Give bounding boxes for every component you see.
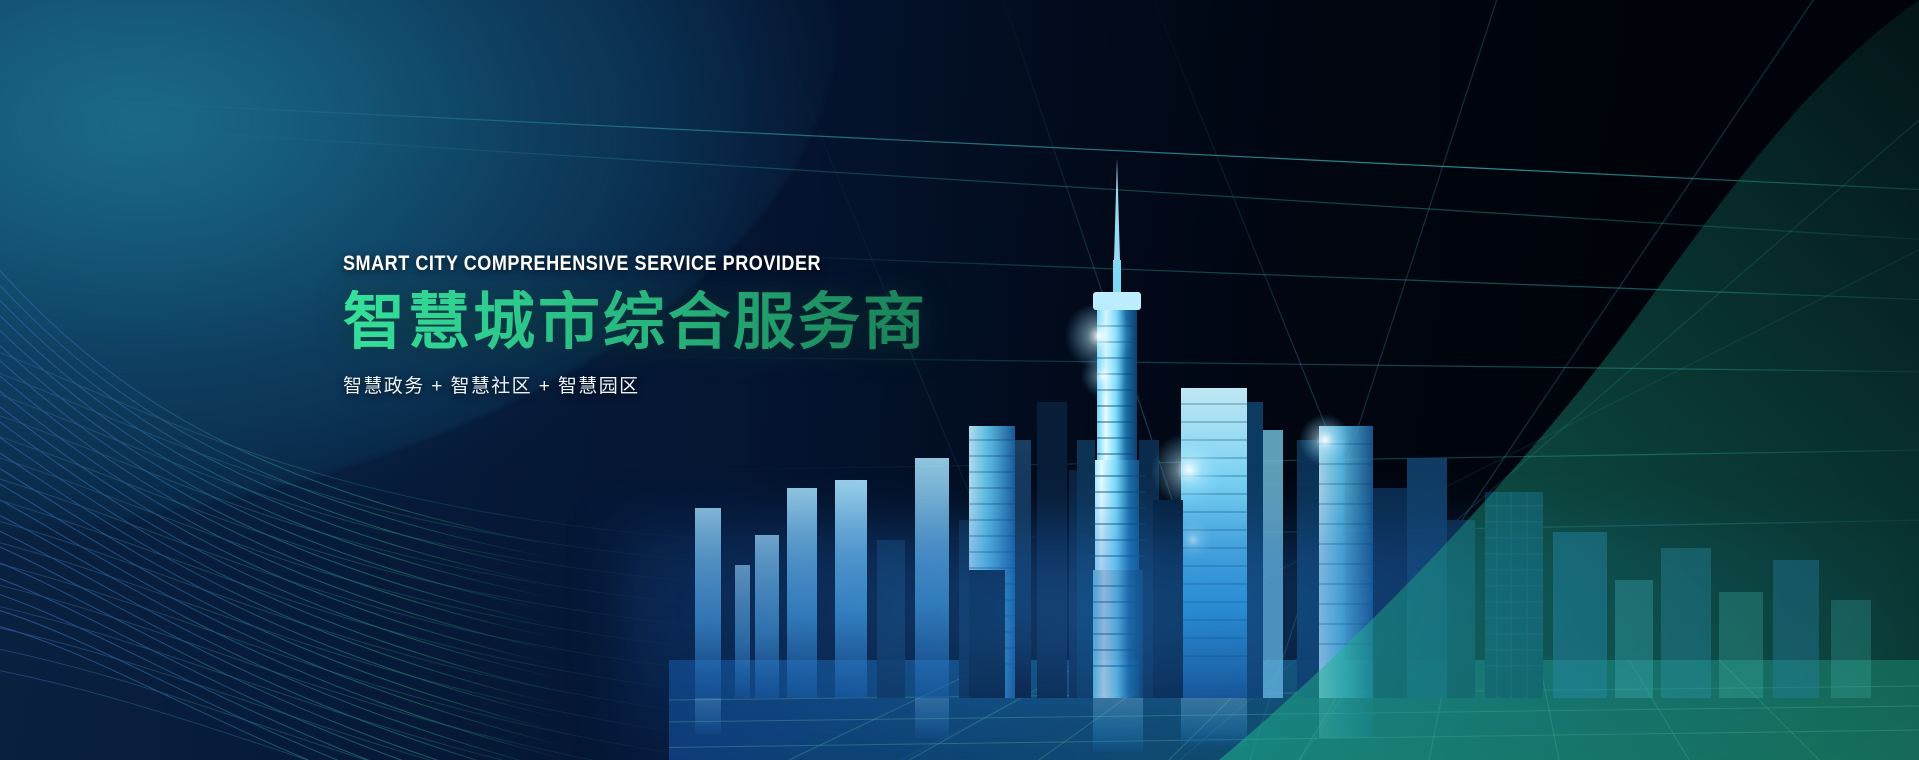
- subtitle-services: 智慧政务 + 智慧社区 + 智慧园区: [343, 371, 928, 398]
- ground-glow: [620, 520, 1919, 760]
- page-title: 智慧城市综合服务商: [343, 290, 928, 355]
- eyebrow-tagline: SMART CITY COMPREHENSIVE SERVICE PROVIDE…: [343, 252, 846, 276]
- hero-copy-block: SMART CITY COMPREHENSIVE SERVICE PROVIDE…: [343, 252, 928, 398]
- hero-banner: SMART CITY COMPREHENSIVE SERVICE PROVIDE…: [0, 0, 1919, 760]
